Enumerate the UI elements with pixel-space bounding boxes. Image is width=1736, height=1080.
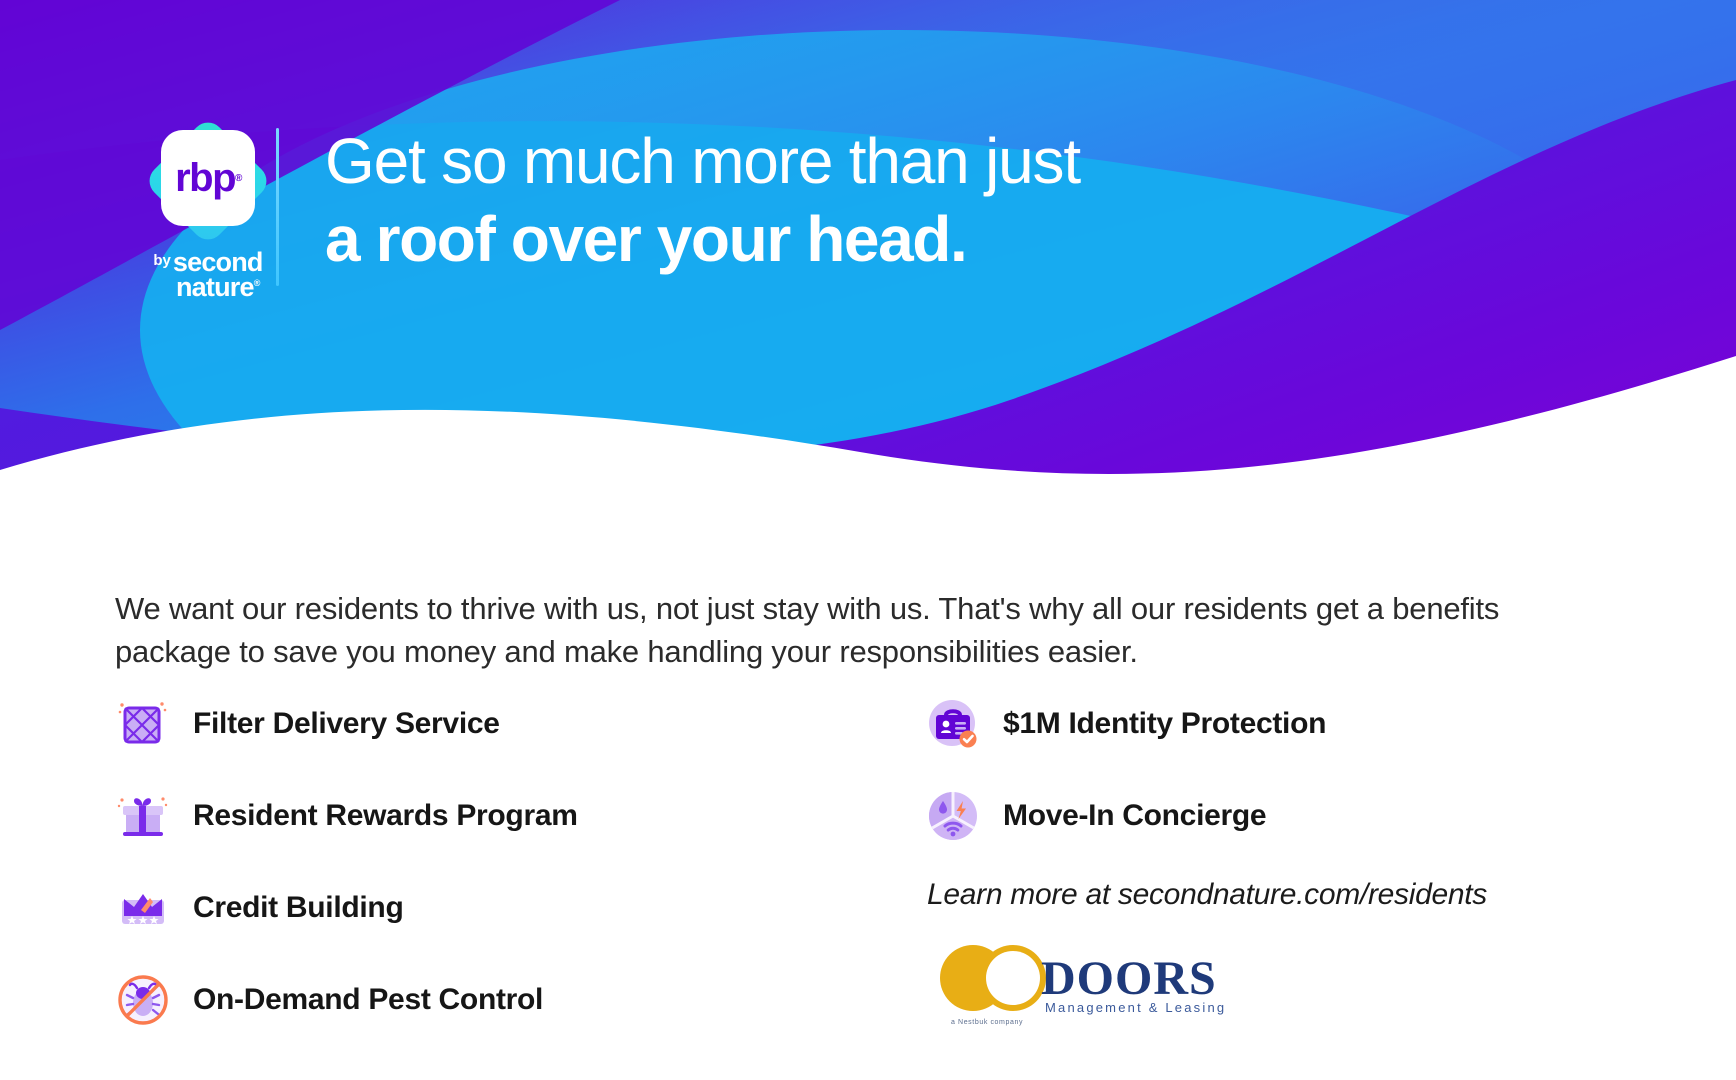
- rbp-letters: rbp: [175, 156, 235, 201]
- benefit-move-in-concierge: Move-In Concierge: [925, 770, 1645, 862]
- air-filter-icon: [115, 696, 171, 752]
- headline-line-1: Get so much more than just: [325, 126, 1475, 198]
- benefits-right-column: $1M Identity Protection: [925, 678, 1645, 1046]
- gift-box-icon: [115, 788, 171, 844]
- benefit-resident-rewards-program: Resident Rewards Program: [115, 770, 925, 862]
- benefits-section: Filter Delivery Service Resident Rewards: [115, 678, 1655, 1046]
- benefit-filter-delivery-service: Filter Delivery Service: [115, 678, 925, 770]
- intro-paragraph: We want our residents to thrive with us,…: [115, 588, 1590, 674]
- benefit-credit-building: Credit Building: [115, 862, 925, 954]
- by-label: by: [153, 254, 171, 268]
- brand-word-nature: nature®: [173, 275, 263, 300]
- rbp-logo-mark: rbp®: [149, 122, 267, 240]
- learn-more-text: Learn more at secondnature.com/residents: [927, 878, 1645, 912]
- hero-banner: rbp® by second nature® Get so much more …: [0, 0, 1736, 510]
- crown-stars-icon: [115, 880, 171, 936]
- doors-wordmark: DOORS: [1041, 952, 1217, 1005]
- no-pest-icon: [115, 972, 171, 1028]
- headline-line-2: a roof over your head.: [325, 204, 1475, 276]
- benefit-identity-protection: $1M Identity Protection: [925, 678, 1645, 770]
- rbp-wordmark: rbp®: [149, 122, 267, 234]
- doors-partner-logo: DOORS Management & Leasing a Nestbuk com…: [937, 938, 1237, 1030]
- doors-subtagline: a Nestbuk company: [951, 1019, 1023, 1026]
- benefit-label: On-Demand Pest Control: [193, 983, 543, 1017]
- benefit-label: Resident Rewards Program: [193, 799, 578, 833]
- registered-mark: ®: [235, 173, 241, 184]
- utilities-circle-icon: [925, 788, 981, 844]
- benefit-label: Credit Building: [193, 891, 403, 925]
- benefit-label: Move-In Concierge: [1003, 799, 1266, 833]
- doors-tagline: Management & Leasing: [1045, 1000, 1226, 1015]
- benefit-label: Filter Delivery Service: [193, 707, 500, 741]
- id-badge-check-icon: [925, 696, 981, 752]
- hero-vertical-divider: [276, 128, 279, 286]
- hero-headline: Get so much more than just a roof over y…: [325, 126, 1475, 275]
- benefit-label: $1M Identity Protection: [1003, 707, 1326, 741]
- benefits-left-column: Filter Delivery Service Resident Rewards: [115, 678, 925, 1046]
- doors-logo-graphic: DOORS Management & Leasing a Nestbuk com…: [937, 938, 1237, 1030]
- benefit-on-demand-pest-control: On-Demand Pest Control: [115, 954, 925, 1046]
